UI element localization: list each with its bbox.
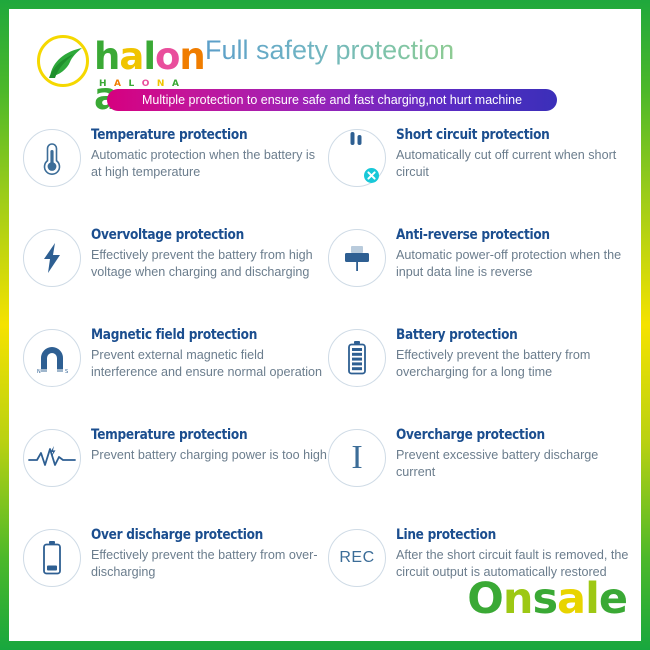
- brand-logo: halona HALONA: [37, 33, 222, 95]
- tagline-banner: Multiple protection to ensure safe and f…: [107, 89, 557, 111]
- current-i-icon: I: [328, 429, 386, 487]
- leaf-icon: [46, 45, 84, 81]
- poster-frame: halona HALONA Full safety protection Mul…: [0, 0, 650, 650]
- feature-item: Anti-reverse protection Automatic power-…: [328, 221, 633, 321]
- feature-heading: Short circuit protection: [396, 127, 616, 143]
- logo-sub-wordmark: HALONA: [99, 79, 186, 89]
- poster-canvas: halona HALONA Full safety protection Mul…: [9, 9, 641, 641]
- feature-heading: Battery protection: [396, 327, 616, 343]
- feature-body: Effectively prevent the battery from hig…: [91, 247, 328, 281]
- feature-body: Automatic power-off protection when the …: [396, 247, 633, 281]
- feature-item: Short circuit protection Automatically c…: [328, 121, 633, 221]
- feature-heading: Line protection: [396, 527, 616, 543]
- feature-item: N S Magnetic field protection Prevent ex…: [23, 321, 328, 421]
- poster-header: halona HALONA Full safety protection Mul…: [9, 9, 641, 121]
- plug-connector-icon: [328, 229, 386, 287]
- feature-grid: Temperature protection Automatic protect…: [9, 121, 641, 641]
- feature-item: Overvoltage protection Effectively preve…: [23, 221, 328, 321]
- short-circuit-icon: [328, 129, 386, 187]
- feature-item: Temperature protection Automatic protect…: [23, 121, 328, 221]
- feature-heading: Over discharge protection: [91, 527, 311, 543]
- feature-heading: Overcharge protection: [396, 427, 616, 443]
- feature-body: Automatic protection when the battery is…: [91, 147, 328, 181]
- feature-item: Temperature protection Prevent battery c…: [23, 421, 328, 521]
- battery-low-icon: [23, 529, 81, 587]
- feature-body: Automatically cut off current when short…: [396, 147, 633, 181]
- rec-icon: REC: [328, 529, 386, 587]
- rec-glyph: REC: [329, 530, 385, 586]
- on-sale-overlay: Onsale: [467, 578, 627, 621]
- feature-body: Prevent excessive battery discharge curr…: [396, 447, 633, 481]
- current-i-glyph: I: [329, 430, 385, 486]
- feature-heading: Overvoltage protection: [91, 227, 311, 243]
- logo-circle-icon: [37, 35, 89, 87]
- svg-text:S: S: [65, 369, 68, 374]
- feature-item: I Overcharge protection Prevent excessiv…: [328, 421, 633, 521]
- feature-body: Effectively prevent the battery from ove…: [396, 347, 633, 381]
- feature-item: Over discharge protection Effectively pr…: [23, 521, 328, 621]
- feature-item: Battery protection Effectively prevent t…: [328, 321, 633, 421]
- page-title: Full safety protection: [205, 35, 454, 66]
- svg-text:N: N: [37, 369, 41, 374]
- feature-body: Prevent external magnetic field interfer…: [91, 347, 328, 381]
- feature-body: Prevent battery charging power is too hi…: [91, 447, 328, 464]
- pulse-waveform-icon: [23, 429, 81, 487]
- lightning-bolt-icon: [23, 229, 81, 287]
- horseshoe-magnet-icon: N S: [23, 329, 81, 387]
- battery-full-icon: [328, 329, 386, 387]
- feature-heading: Temperature protection: [91, 127, 311, 143]
- feature-heading: Anti-reverse protection: [396, 227, 616, 243]
- feature-heading: Magnetic field protection: [91, 327, 311, 343]
- feature-heading: Temperature protection: [91, 427, 311, 443]
- thermometer-icon: [23, 129, 81, 187]
- feature-body: Effectively prevent the battery from ove…: [91, 547, 328, 581]
